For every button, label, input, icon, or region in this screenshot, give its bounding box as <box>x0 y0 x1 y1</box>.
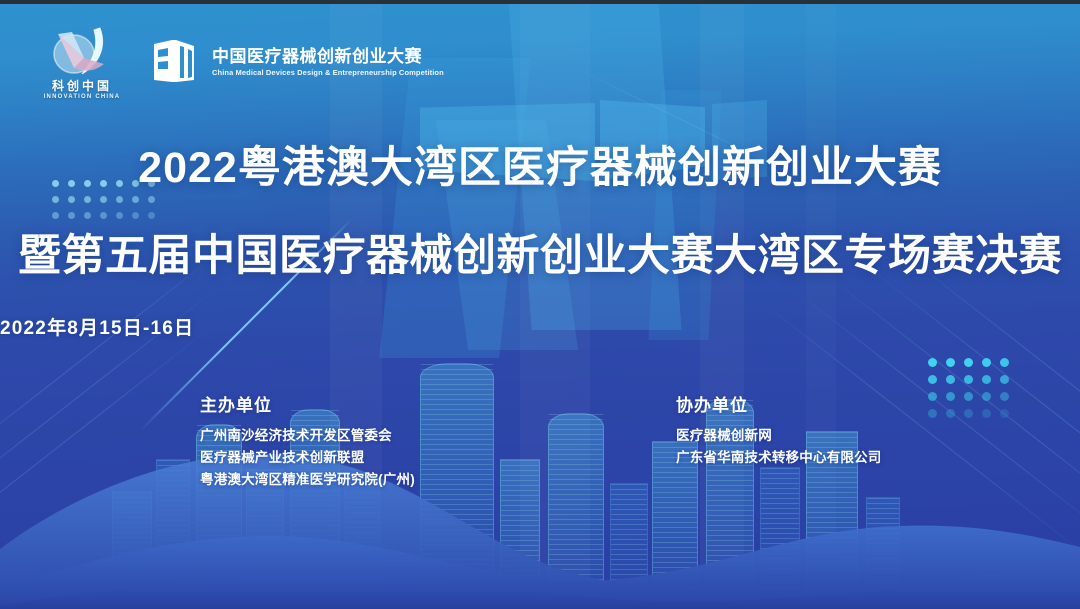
wave-hills <box>0 429 1080 609</box>
top-edge-bar <box>0 0 1080 4</box>
headline-line-2: 暨第五届中国医疗器械创新创业大赛大湾区专场赛决赛 <box>0 221 1080 283</box>
innovation-china-en: INNOVATION CHINA <box>36 94 128 100</box>
cmdc-text-block: 中国医疗器械创新创业大赛 China Medical Devices Desig… <box>212 47 444 78</box>
event-date: 2022年8月15日-16日 <box>0 313 1080 340</box>
logo-innovation-china: 科创中国 INNOVATION CHINA <box>36 24 128 100</box>
organizer-co-title: 协办单位 <box>676 391 882 416</box>
organizer-co-line-1: 医疗器械创新网 <box>676 425 882 447</box>
cmdc-title-cn: 中国医疗器械创新创业大赛 <box>212 47 444 67</box>
organizer-host-line-2: 医疗器械产业技术创新联盟 <box>200 447 415 469</box>
cmdc-open-book-icon <box>150 36 202 88</box>
logo-cmdc: 中国医疗器械创新创业大赛 China Medical Devices Desig… <box>150 36 444 88</box>
dot-grid-right <box>928 358 1018 426</box>
innovation-china-mark-icon <box>44 24 120 78</box>
organizer-co-line-2: 广东省华南技术转移中心有限公司 <box>676 447 882 469</box>
cmdc-title-en: China Medical Devices Design & Entrepren… <box>212 68 444 77</box>
organizer-host-title: 主办单位 <box>200 391 415 416</box>
organizer-host-block: 主办单位 广州南沙经济技术开发区管委会 医疗器械产业技术创新联盟 粤港澳大湾区精… <box>200 391 415 491</box>
organizer-co-block: 协办单位 医疗器械创新网 广东省华南技术转移中心有限公司 <box>676 391 882 469</box>
organizer-host-line-3: 粤港澳大湾区精准医学研究院(广州) <box>200 469 415 491</box>
innovation-china-label: 科创中国 INNOVATION CHINA <box>36 80 128 100</box>
headline-line-1: 2022粤港澳大湾区医疗器械创新创业大赛 <box>0 133 1080 195</box>
poster-banner: 科创中国 INNOVATION CHINA 中国医疗器械创新创业大赛 China… <box>0 0 1080 609</box>
organizer-host-line-1: 广州南沙经济技术开发区管委会 <box>200 425 415 447</box>
logo-row: 科创中国 INNOVATION CHINA 中国医疗器械创新创业大赛 China… <box>36 24 444 100</box>
innovation-china-cn: 科创中国 <box>52 79 112 93</box>
